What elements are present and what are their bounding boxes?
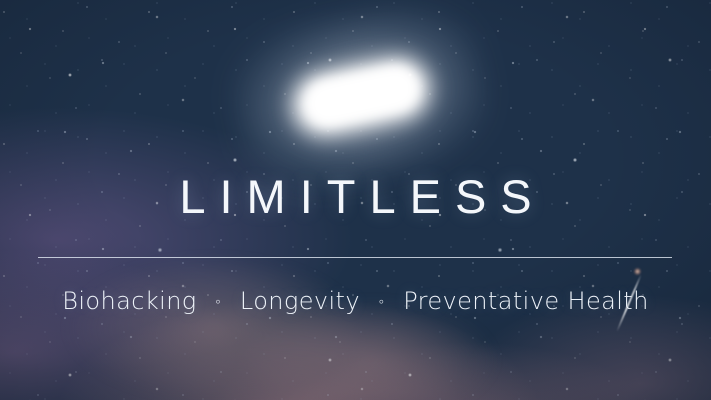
tagline-item-longevity: Longevity (240, 286, 360, 316)
page-title: LIMITLESS (0, 173, 711, 220)
divider-rule (38, 257, 672, 258)
limitless-poster: LIMITLESS Biohacking ∘ Longevity ∘ Preve… (0, 0, 711, 400)
poster-content: LIMITLESS Biohacking ∘ Longevity ∘ Preve… (0, 0, 711, 400)
tagline-item-preventative-health: Preventative Health (403, 286, 649, 316)
separator-ring-icon-2: ∘ (368, 294, 395, 312)
separator-ring-icon-1: ∘ (205, 294, 232, 312)
subtitle-tagline: Biohacking ∘ Longevity ∘ Preventative He… (0, 286, 711, 316)
tagline-item-biohacking: Biohacking (62, 286, 196, 316)
